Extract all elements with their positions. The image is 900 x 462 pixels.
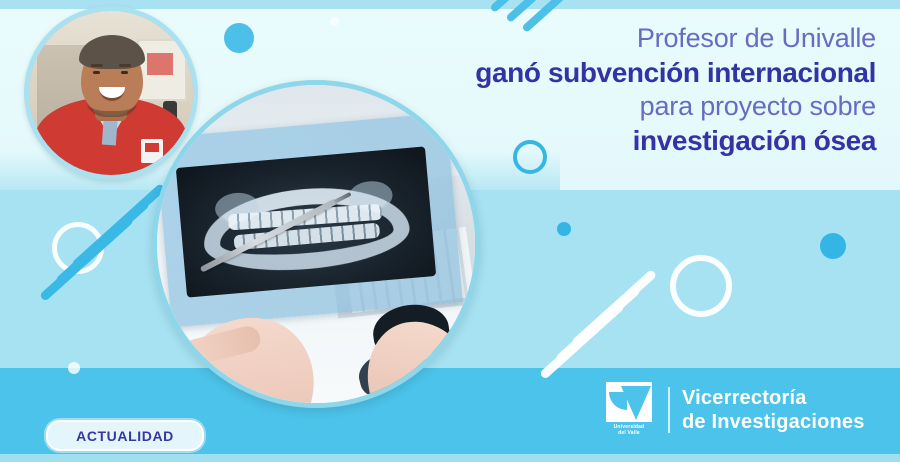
wall-poster	[137, 39, 187, 101]
professor-portrait	[24, 6, 198, 180]
eyebrow-right	[119, 64, 131, 67]
logo-v-shape	[621, 386, 651, 420]
decorative-ring-icon-right	[670, 255, 732, 317]
category-badge-label: ACTUALIDAD	[76, 428, 174, 444]
category-badge[interactable]: ACTUALIDAD	[46, 420, 204, 451]
universidad-del-valle-logo: Universidad del Valle	[604, 382, 656, 438]
logo-lockup[interactable]: Universidad del Valle Vicerrectoría de I…	[604, 382, 865, 438]
decorative-dot-icon-small	[330, 17, 339, 26]
shirt-logo-patch	[141, 139, 163, 163]
headline-line-3: para proyecto sobre	[356, 90, 876, 124]
headline-line-4: investigación ósea	[356, 124, 876, 159]
headline-line-1: Profesor de Univalle	[356, 22, 876, 56]
logo-caption-line-2: del Valle	[604, 430, 654, 436]
lockup-text-line-1: Vicerrectoría	[682, 386, 865, 410]
headline-line-2: ganó subvención internacional	[356, 56, 876, 91]
eyebrow-left	[91, 64, 103, 67]
logo-caption: Universidad del Valle	[604, 424, 654, 436]
headline: Profesor de Univalle ganó subvención int…	[356, 22, 876, 158]
decorative-dot-icon-right	[820, 233, 846, 259]
news-banner: Profesor de Univalle ganó subvención int…	[0, 0, 900, 462]
lockup-text: Vicerrectoría de Investigaciones	[682, 386, 865, 434]
eye-right	[121, 71, 128, 74]
dental-arch-graphic	[199, 172, 412, 282]
bottom-accent-strip	[0, 454, 900, 462]
decorative-dot-icon-center	[557, 222, 571, 236]
decorative-dot-icon-top	[224, 23, 254, 53]
lockup-text-line-2: de Investigaciones	[682, 410, 865, 434]
eye-left	[93, 71, 100, 74]
lockup-divider	[668, 387, 670, 433]
